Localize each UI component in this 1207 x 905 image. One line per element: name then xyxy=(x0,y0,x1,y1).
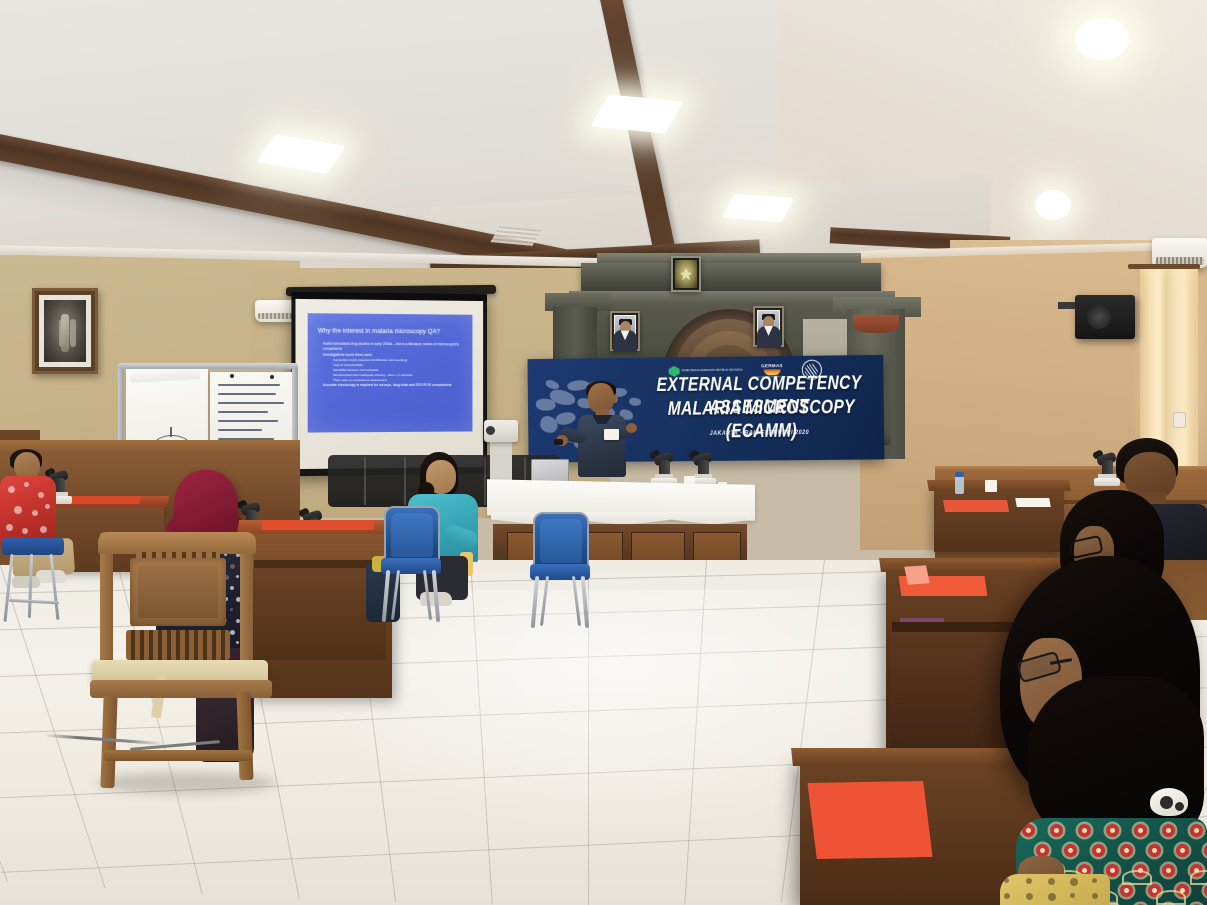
chair-seat xyxy=(2,538,64,555)
fabric-motif xyxy=(1110,868,1115,873)
projector-lens xyxy=(486,426,495,435)
presenter-ear xyxy=(612,395,618,403)
fabric-motif xyxy=(1070,893,1075,898)
recessed-light xyxy=(1035,190,1071,220)
flipchart-pin xyxy=(230,374,234,378)
fabric-motif xyxy=(1166,868,1171,873)
chair-leg xyxy=(3,554,13,622)
wall-outlet xyxy=(1173,412,1186,428)
chair-top-rail xyxy=(98,532,256,554)
chair-stretcher xyxy=(9,599,59,605)
desk-red-pad xyxy=(807,781,932,859)
fabric-motif xyxy=(22,528,28,534)
slide-bullet: Failed stimulated drug studies in early … xyxy=(323,342,468,353)
stone-lintel xyxy=(581,263,881,293)
fabric-motif xyxy=(24,482,29,487)
blue-chair xyxy=(2,538,68,630)
brick-ornament xyxy=(853,315,899,333)
chair-stretcher xyxy=(104,750,252,761)
chair-splat xyxy=(130,558,226,626)
garuda-bird-icon xyxy=(680,268,692,280)
fabric-motif xyxy=(1110,828,1115,833)
desk-red-pad xyxy=(943,500,1009,512)
portrait-image xyxy=(758,311,779,342)
artwork-figure xyxy=(61,314,69,352)
official-portrait-left xyxy=(610,311,640,351)
fabric-motif xyxy=(1180,848,1185,853)
water-bottle xyxy=(955,476,964,494)
presenter-hand-right xyxy=(626,423,637,433)
presenter-name-badge xyxy=(604,429,619,440)
handwritten-line xyxy=(218,384,280,386)
fabric-motif xyxy=(1068,848,1073,853)
fabric-motif xyxy=(1048,878,1055,885)
fabric-motif xyxy=(1138,828,1143,833)
chair-leg xyxy=(391,570,400,620)
blue-chair xyxy=(533,512,593,636)
fabric-motif xyxy=(1070,878,1078,886)
fabric-motif xyxy=(8,486,15,493)
chair-leg xyxy=(28,554,33,618)
fabric-motif xyxy=(1194,828,1199,833)
paper-cup xyxy=(985,480,997,492)
recessed-light xyxy=(1075,18,1129,60)
fabric-motif xyxy=(1124,848,1129,853)
chair-backrest-pad xyxy=(391,513,433,557)
artwork-figure xyxy=(70,319,76,347)
official-portrait-right xyxy=(753,306,784,347)
fabric-motif xyxy=(1004,893,1010,899)
fabric-motif xyxy=(1004,878,1009,883)
chair-backrest xyxy=(533,512,589,570)
flipchart-frame-top xyxy=(118,363,298,369)
fabric-motif xyxy=(1156,890,1186,905)
germas-logo-label: GERMAS xyxy=(761,363,783,368)
microscope xyxy=(651,452,679,486)
bottle-cap xyxy=(955,472,964,477)
desk-red-pad-fold xyxy=(904,565,930,584)
fabric-motif xyxy=(1082,868,1087,873)
fabric-motif xyxy=(1082,828,1087,833)
curtain-rod xyxy=(1128,264,1200,269)
chair-leg xyxy=(236,692,253,780)
hair-clip-detail xyxy=(1160,796,1173,809)
projection-screen: Why the interest in malaria microscopy Q… xyxy=(291,292,487,476)
chair-leg xyxy=(581,576,590,628)
projector-stand xyxy=(490,441,512,483)
slide-bullet: Accurate microscopy is required for surv… xyxy=(323,383,468,388)
screen-canvas: Why the interest in malaria microscopy Q… xyxy=(295,299,483,469)
slide-title: Why the interest in malaria microscopy Q… xyxy=(318,327,465,335)
handwritten-line xyxy=(218,402,284,404)
fabric-motif xyxy=(1152,848,1157,853)
chair-splat-inset xyxy=(138,566,218,618)
fabric-motif xyxy=(1092,893,1098,899)
fabric-motif xyxy=(14,506,22,514)
hair-clip-detail xyxy=(1175,802,1184,811)
slide-bullet-list: Failed stimulated drug studies in early … xyxy=(319,342,468,389)
presentation-slide: Why the interest in malaria microscopy Q… xyxy=(308,313,473,432)
kemenkes-logo-label: KEMENTERIAN KESEHATAN REPUBLIK INDONESIA xyxy=(682,369,743,373)
presentation-clicker xyxy=(554,439,563,445)
chair-leg xyxy=(382,570,391,622)
fabric-motif xyxy=(1190,870,1207,885)
chair-back-post xyxy=(240,540,253,666)
chair-backrest-pad xyxy=(540,519,582,563)
fabric-motif xyxy=(1048,893,1056,901)
chair-backrest xyxy=(384,506,440,564)
handwritten-line xyxy=(218,429,262,431)
fabric-motif xyxy=(38,492,44,498)
garuda-emblem xyxy=(671,256,701,292)
handwritten-line xyxy=(218,420,278,422)
speaker-cone xyxy=(1087,305,1111,329)
chair-leg xyxy=(50,554,60,620)
portrait-image xyxy=(615,316,635,346)
presenter-torso xyxy=(578,415,626,477)
participant-foreground-right xyxy=(1000,556,1207,905)
chair-legs xyxy=(5,554,61,624)
projector xyxy=(484,420,518,442)
slide-bullet: There was no competence assessment xyxy=(333,378,468,383)
handwritten-line xyxy=(218,411,268,413)
desk-top xyxy=(927,480,1071,491)
desk xyxy=(934,486,1064,552)
fabric-motif xyxy=(1026,893,1033,900)
chair-leg xyxy=(100,696,117,788)
seat-divider xyxy=(364,457,366,505)
chair-leg xyxy=(423,570,432,620)
fabric-motif xyxy=(1026,878,1032,884)
fabric-motif xyxy=(6,524,13,531)
fabric-motif xyxy=(1040,848,1045,853)
chair-leg xyxy=(531,576,540,628)
flipchart-pin xyxy=(270,375,274,379)
fabric-motif xyxy=(1152,888,1157,893)
fabric-motif xyxy=(1092,878,1097,883)
blue-chair xyxy=(384,506,442,626)
chair-leg xyxy=(572,576,581,626)
fabric-motif xyxy=(1166,828,1171,833)
fabric-motif xyxy=(32,510,38,516)
wall-speaker xyxy=(1075,295,1135,339)
fabric-motif xyxy=(1026,828,1031,833)
paper-sheet xyxy=(1015,498,1051,507)
fabric-motif xyxy=(1096,848,1101,853)
recessed-light xyxy=(722,194,794,222)
fabric-motif xyxy=(1122,870,1152,885)
fabric-motif xyxy=(40,526,47,533)
garuda-emblem-field xyxy=(675,260,697,288)
batik-sleeve xyxy=(1000,874,1110,905)
wooden-chair xyxy=(92,532,262,790)
framed-artwork xyxy=(32,288,98,374)
chair-leg xyxy=(540,576,549,626)
artwork-image xyxy=(44,300,86,362)
chair-spindles xyxy=(126,630,230,660)
handwritten-line xyxy=(218,393,276,395)
desk-red-pad xyxy=(261,520,375,530)
fabric-motif xyxy=(1124,888,1129,893)
flipchart-mark xyxy=(170,427,172,437)
fabric-motif xyxy=(45,504,50,509)
chair-leg xyxy=(432,570,441,622)
fabric-motif xyxy=(1054,828,1059,833)
desk-shelf xyxy=(254,560,384,568)
participant-torso xyxy=(0,476,56,546)
meeting-room-photo: Why the interest in malaria microscopy Q… xyxy=(0,0,1207,905)
